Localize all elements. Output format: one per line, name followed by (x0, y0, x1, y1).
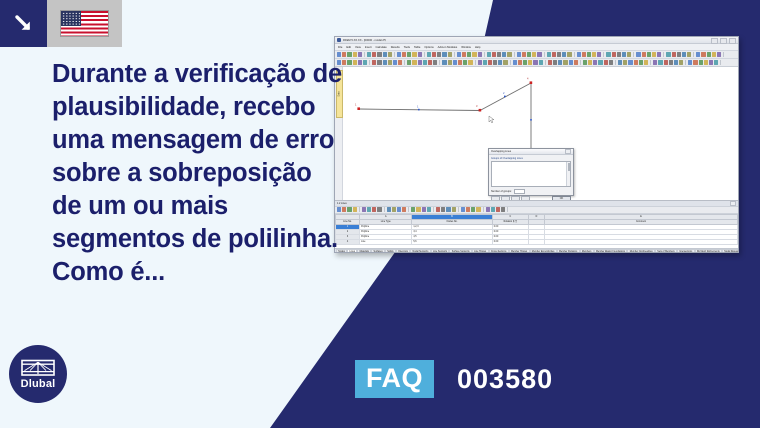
menu-item-file[interactable]: File (338, 46, 342, 49)
toolbar-button-icon[interactable] (699, 60, 703, 64)
toolbar-separator (693, 52, 694, 57)
toolbar-button-icon[interactable] (709, 60, 713, 64)
toolbar-button-icon[interactable] (437, 52, 441, 56)
toolbar-separator (723, 52, 724, 57)
toolbar-button-icon[interactable] (682, 52, 686, 56)
arrow-down-right-icon[interactable] (0, 0, 47, 47)
toolbar-button-icon[interactable] (347, 207, 351, 211)
faq-identifier: FAQ 003580 (355, 360, 553, 398)
toolbar-button-icon[interactable] (448, 60, 452, 64)
toolbar-separator (545, 60, 546, 65)
toolbar-button-icon[interactable] (677, 52, 681, 56)
toolbar-button-icon[interactable] (471, 207, 475, 211)
toolbar-separator (364, 52, 365, 57)
toolbar-button-icon[interactable] (517, 52, 521, 56)
toolbar-button-icon[interactable] (701, 52, 705, 56)
application-window-screenshot: RFEM 5.XX.XX - [00000 - model.rf5] File … (334, 36, 739, 253)
toolbar-button-icon[interactable] (552, 52, 556, 56)
toolbar-button-icon[interactable] (567, 52, 571, 56)
toolbar-button-icon[interactable] (372, 52, 376, 56)
toolbar-button-icon[interactable] (507, 52, 511, 56)
dialog-next-button[interactable] (501, 196, 510, 200)
table-tab[interactable]: Line Hinges (472, 249, 489, 254)
toolbar-button-icon[interactable] (412, 60, 416, 64)
toolbar-button-icon[interactable] (388, 52, 392, 56)
toolbar-button-icon[interactable] (497, 52, 501, 56)
menu-item-calculate[interactable]: Calculate (376, 46, 387, 49)
toolbar-button-icon[interactable] (433, 60, 437, 64)
minimize-button[interactable] (711, 38, 718, 44)
toolbar-button-icon[interactable] (392, 207, 396, 211)
toolbar-button-icon[interactable] (457, 52, 461, 56)
app-window-title: RFEM 5.XX.XX - [00000 - model.rf5] (343, 39, 386, 42)
toolbar-button-icon[interactable] (372, 207, 376, 211)
toolbar-button-icon[interactable] (442, 60, 446, 64)
toolbar-button-icon[interactable] (533, 60, 537, 64)
toolbar-separator (574, 52, 575, 57)
us-flag-icon[interactable] (47, 0, 122, 47)
table-tab[interactable]: Member Eccentricities (530, 249, 557, 254)
table-body[interactable]: 1Polyline1,2,30.002Polyline3,40.003Polyl… (336, 224, 738, 244)
toolbar-button-icon[interactable] (669, 60, 673, 64)
cell-comment[interactable] (545, 239, 738, 244)
toolbar-button-icon[interactable] (363, 60, 367, 64)
model-canvas[interactable]: 1 3 4 5 1 2 Overlapping Lines (343, 67, 738, 200)
table-tab[interactable]: Sets of Members (655, 249, 677, 254)
dialog-group-label: Groups of Overlapping Lines (491, 157, 571, 160)
toolbar-button-icon[interactable] (604, 60, 608, 64)
table-tab[interactable]: Members (580, 249, 594, 254)
table-tab[interactable]: Openings (396, 249, 410, 254)
toolbar-button-icon[interactable] (647, 52, 651, 56)
toolbar-separator (433, 207, 434, 212)
truss-bridge-icon (21, 358, 55, 378)
table-tab[interactable]: Materials (357, 249, 371, 254)
toolbar-separator (483, 207, 484, 212)
close-button[interactable] (729, 38, 736, 44)
toolbar-button-icon[interactable] (353, 60, 357, 64)
toolbar-button-icon[interactable] (466, 207, 470, 211)
table-tab[interactable]: Cross-Sections (489, 249, 509, 254)
toolbar-separator (507, 207, 508, 212)
window-controls[interactable] (711, 38, 736, 44)
toolbar-button-icon[interactable] (388, 60, 392, 64)
cell-line-type[interactable]: Line (360, 239, 412, 244)
table-tab[interactable]: Member Elastic Foundations (594, 249, 628, 254)
toolbar-button-icon[interactable] (712, 52, 716, 56)
toolbar-button-icon[interactable] (427, 52, 431, 56)
toolbar-button-icon[interactable] (622, 52, 626, 56)
toolbar-button-icon[interactable] (597, 52, 601, 56)
toolbar-button-icon[interactable] (397, 52, 401, 56)
toolbar-button-icon[interactable] (486, 207, 490, 211)
toolbar-button-icon[interactable] (642, 52, 646, 56)
toolbar-separator (650, 60, 651, 65)
toolbar-button-icon[interactable] (501, 207, 505, 211)
toolbar-button-icon[interactable] (553, 60, 557, 64)
toolbar-button-icon[interactable] (462, 52, 466, 56)
app-toolbar-secondary[interactable] (335, 59, 738, 67)
toolbar-separator (475, 60, 476, 65)
toolbar-button-icon[interactable] (422, 207, 426, 211)
toolbar-button-icon[interactable] (569, 60, 573, 64)
menu-item-tools[interactable]: Tools (404, 46, 410, 49)
toolbar-button-icon[interactable] (478, 52, 482, 56)
toolbar-button-icon[interactable] (347, 60, 351, 64)
toolbar-button-icon[interactable] (548, 60, 552, 64)
toolbar-button-icon[interactable] (714, 60, 718, 64)
toolbar-button-icon[interactable] (527, 52, 531, 56)
toolbar-button-icon[interactable] (592, 52, 596, 56)
toolbar-button-icon[interactable] (522, 52, 526, 56)
toolbar-button-icon[interactable] (383, 60, 387, 64)
toolbar-separator (544, 52, 545, 57)
toolbar-button-icon[interactable] (432, 52, 436, 56)
toolbar-separator (369, 60, 370, 65)
toolbar-button-icon[interactable] (574, 60, 578, 64)
table-row[interactable]: 4Line5,60.00 (336, 239, 738, 244)
toolbar-button-icon[interactable] (493, 60, 497, 64)
toolbar-button-icon[interactable] (448, 52, 452, 56)
toolbar-button-icon[interactable] (513, 60, 517, 64)
toolbar-button-icon[interactable] (411, 207, 415, 211)
toolbar-button-icon[interactable] (674, 60, 678, 64)
dialog-prev-button[interactable] (491, 196, 500, 200)
toolbar-button-icon[interactable] (407, 60, 411, 64)
table-panel-title: 1.2 Lines (335, 201, 738, 207)
maximize-button[interactable] (720, 38, 727, 44)
svg-text:4: 4 (527, 77, 529, 81)
menu-item-results[interactable]: Results (391, 46, 400, 49)
toolbar-button-icon[interactable] (537, 52, 541, 56)
table-tab[interactable]: Intersections (677, 249, 695, 254)
cell-spacer[interactable] (528, 239, 544, 244)
toolbar-button-icon[interactable] (483, 60, 487, 64)
toolbar-button-icon[interactable] (704, 60, 708, 64)
toolbar-button-icon[interactable] (618, 60, 622, 64)
toolbar-button-icon[interactable] (398, 60, 402, 64)
flag-canton (61, 11, 81, 26)
toolbar-button-icon[interactable] (393, 60, 397, 64)
app-workspace: Data (335, 67, 738, 200)
toolbar-button-icon[interactable] (491, 207, 495, 211)
page-title: Durante a verificação de plausibilidade,… (52, 58, 342, 289)
flag-graphic (60, 10, 109, 37)
toolbar-button-icon[interactable] (418, 60, 422, 64)
toolbar-button-icon[interactable] (362, 207, 366, 211)
faq-label: FAQ (355, 360, 434, 398)
toolbar-button-icon[interactable] (539, 60, 543, 64)
toolbar-button-icon[interactable] (636, 52, 640, 56)
toolbar-button-icon[interactable] (402, 52, 406, 56)
toolbar-button-icon[interactable] (502, 52, 506, 56)
toolbar-button-icon[interactable] (679, 60, 683, 64)
toolbar-button-icon[interactable] (627, 52, 631, 56)
toolbar-button-icon[interactable] (441, 207, 445, 211)
toolbar-button-icon[interactable] (377, 52, 381, 56)
menu-item-table[interactable]: Table (414, 46, 420, 49)
toolbar-button-icon[interactable] (658, 60, 662, 64)
flag-stars (62, 12, 80, 25)
toolbar-button-icon[interactable] (503, 60, 507, 64)
menu-item-options[interactable]: Options (424, 46, 433, 49)
toolbar-button-icon[interactable] (563, 60, 567, 64)
toolbar-separator (439, 60, 440, 65)
logo-circle: Dlubal (9, 345, 67, 403)
toolbar-button-icon[interactable] (492, 52, 496, 56)
toolbar-button-icon[interactable] (628, 60, 632, 64)
toolbar-button-icon[interactable] (402, 207, 406, 211)
toolbar-button-icon[interactable] (617, 52, 621, 56)
toolbar-separator (580, 60, 581, 65)
toolbar-button-icon[interactable] (377, 207, 381, 211)
table-panel: 1.2 Lines A B C D (335, 200, 738, 253)
toolbar-button-icon[interactable] (587, 52, 591, 56)
svg-text:3: 3 (476, 104, 478, 108)
toolbar-button-icon[interactable] (652, 52, 656, 56)
toolbar-button-icon[interactable] (653, 60, 657, 64)
dialog-pick-button[interactable] (521, 196, 530, 200)
toolbar-separator (424, 52, 425, 57)
toolbar-button-icon[interactable] (644, 60, 648, 64)
group-count-label: Number of groups: (491, 190, 512, 193)
toolbar-button-icon[interactable] (496, 207, 500, 211)
toolbar-button-icon[interactable] (342, 207, 346, 211)
toolbar-button-icon[interactable] (558, 60, 562, 64)
cell-rotation[interactable]: 0.00 (492, 239, 528, 244)
toolbar-separator (408, 207, 409, 212)
toolbar-button-icon[interactable] (436, 207, 440, 211)
toolbar-separator (663, 52, 664, 57)
toolbar-button-icon[interactable] (478, 60, 482, 64)
menu-item-insert[interactable]: Insert (365, 46, 372, 49)
toolbar-separator (404, 60, 405, 65)
toolbar-button-icon[interactable] (593, 60, 597, 64)
dialog-title: Overlapping Lines (491, 150, 511, 153)
toolbar-separator (359, 207, 360, 212)
cell-nodes-no[interactable]: 5,6 (412, 239, 492, 244)
table-toolbar[interactable] (335, 207, 738, 214)
toolbar-button-icon[interactable] (562, 52, 566, 56)
toolbar-button-icon[interactable] (498, 60, 502, 64)
toolbar-button-icon[interactable] (353, 52, 357, 56)
svg-text:1: 1 (355, 103, 357, 107)
table-tab[interactable]: Solids (385, 249, 396, 254)
toolbar-button-icon[interactable] (518, 60, 522, 64)
toolbar-button-icon[interactable] (528, 60, 532, 64)
toolbar-button-icon[interactable] (372, 60, 376, 64)
toolbar-button-icon[interactable] (634, 60, 638, 64)
table-panel-close-icon[interactable] (730, 201, 736, 206)
toolbar-separator (514, 52, 515, 57)
toolbar-button-icon[interactable] (532, 52, 536, 56)
toolbar-button-icon[interactable] (453, 60, 457, 64)
menu-item-window[interactable]: Window (461, 46, 471, 49)
app-menubar[interactable]: File Edit View Insert Calculate Results … (335, 44, 738, 51)
toolbar-button-icon[interactable] (693, 60, 697, 64)
language-bar (0, 0, 122, 47)
toolbar-button-icon[interactable] (446, 207, 450, 211)
menu-item-edit[interactable]: Edit (346, 46, 351, 49)
toolbar-button-icon[interactable] (367, 207, 371, 211)
toolbar-button-icon[interactable] (416, 207, 420, 211)
lines-table[interactable]: A B C D E Line No. Line Type Nodes No. R… (335, 214, 738, 245)
toolbar-separator (685, 60, 686, 65)
toolbar-button-icon[interactable] (387, 207, 391, 211)
toolbar-button-icon[interactable] (717, 52, 721, 56)
toolbar-button-icon[interactable] (418, 52, 422, 56)
table-tab[interactable]: Member Nonlinearities (627, 249, 655, 254)
toolbar-button-icon[interactable] (377, 60, 381, 64)
dialog-footer: OK (491, 196, 571, 201)
toolbar-button-icon[interactable] (342, 60, 346, 64)
menu-item-help[interactable]: Help (475, 46, 481, 49)
table-tab[interactable]: Surfaces (371, 249, 385, 254)
toolbar-button-icon[interactable] (557, 52, 561, 56)
toolbar-separator (720, 60, 721, 65)
toolbar-button-icon[interactable] (688, 60, 692, 64)
toolbar-button-icon[interactable] (476, 207, 480, 211)
toolbar-button-icon[interactable] (488, 60, 492, 64)
toolbar-separator (454, 52, 455, 57)
table-tab[interactable]: Surface Supports (449, 249, 471, 254)
table-tab[interactable]: FE Mesh Refinements (695, 249, 722, 254)
toolbar-button-icon[interactable] (463, 60, 467, 64)
toolbar-button-icon[interactable] (606, 52, 610, 56)
group-count-row: Number of groups: (491, 189, 571, 195)
svg-text:2: 2 (503, 91, 505, 95)
table-tab[interactable]: Member Divisions (557, 249, 580, 254)
toolbar-button-icon[interactable] (442, 52, 446, 56)
toolbar-button-icon[interactable] (707, 52, 711, 56)
app-toolbar-primary[interactable] (335, 51, 738, 59)
toolbar-separator (603, 52, 604, 57)
toolbar-button-icon[interactable] (696, 52, 700, 56)
list-scrollbar[interactable] (566, 162, 571, 186)
toolbar-button-icon[interactable] (468, 60, 472, 64)
table-tab-strip[interactable]: NodesLinesMaterialsSurfacesSolidsOpening… (335, 248, 738, 254)
overlapping-lines-list[interactable] (491, 161, 571, 187)
table-tab[interactable]: Line Supports (431, 249, 450, 254)
group-count-field[interactable] (514, 189, 525, 195)
toolbar-button-icon[interactable] (412, 52, 416, 56)
toolbar-button-icon[interactable] (623, 60, 627, 64)
toolbar-button-icon[interactable] (577, 52, 581, 56)
toolbar-button-icon[interactable] (383, 52, 387, 56)
toolbar-button-icon[interactable] (487, 52, 491, 56)
table-tab[interactable]: Nodal Releases (722, 249, 738, 254)
logo-wordmark: Dlubal (21, 379, 56, 390)
toolbar-button-icon[interactable] (458, 60, 462, 64)
table-tab[interactable]: Member Hinges (509, 249, 530, 254)
dialog-close-icon[interactable] (565, 149, 571, 154)
table-tab[interactable]: Nodal Supports (410, 249, 430, 254)
toolbar-button-icon[interactable] (657, 52, 661, 56)
toolbar-button-icon[interactable] (407, 52, 411, 56)
app-icon (337, 38, 341, 42)
toolbar-separator (633, 52, 634, 57)
toolbar-button-icon[interactable] (583, 60, 587, 64)
app-titlebar: RFEM 5.XX.XX - [00000 - model.rf5] (335, 37, 738, 44)
toolbar-button-icon[interactable] (467, 52, 471, 56)
toolbar-button-icon[interactable] (687, 52, 691, 56)
toolbar-separator (394, 52, 395, 57)
toolbar-separator (484, 52, 485, 57)
toolbar-button-icon[interactable] (598, 60, 602, 64)
toolbar-button-icon[interactable] (609, 60, 613, 64)
toolbar-separator (615, 60, 616, 65)
toolbar-button-icon[interactable] (358, 52, 362, 56)
toolbar-button-icon[interactable] (423, 60, 427, 64)
toolbar-button-icon[interactable] (547, 52, 551, 56)
toolbar-button-icon[interactable] (452, 207, 456, 211)
toolbar-button-icon[interactable] (472, 52, 476, 56)
toolbar-button-icon[interactable] (367, 52, 371, 56)
dialog-ok-button[interactable]: OK (552, 196, 571, 201)
toolbar-button-icon[interactable] (612, 52, 616, 56)
toolbar-button-icon[interactable] (353, 207, 357, 211)
svg-text:1: 1 (417, 104, 419, 108)
toolbar-button-icon[interactable] (337, 52, 341, 56)
toolbar-separator (384, 207, 385, 212)
toolbar-button-icon[interactable] (588, 60, 592, 64)
faq-banner: Durante a verificação de plausibilidade,… (0, 0, 760, 428)
overlapping-lines-dialog[interactable]: Overlapping Lines Groups of Overlapping … (488, 148, 574, 196)
dialog-zoom-button[interactable] (511, 196, 520, 200)
toolbar-button-icon[interactable] (582, 52, 586, 56)
toolbar-button-icon[interactable] (342, 52, 346, 56)
toolbar-button-icon[interactable] (397, 207, 401, 211)
toolbar-separator (458, 207, 459, 212)
toolbar-button-icon[interactable] (428, 60, 432, 64)
toolbar-button-icon[interactable] (523, 60, 527, 64)
toolbar-button-icon[interactable] (358, 60, 362, 64)
toolbar-button-icon[interactable] (666, 52, 670, 56)
dialog-body: Groups of Overlapping Lines Number of gr… (489, 155, 573, 200)
toolbar-button-icon[interactable] (461, 207, 465, 211)
faq-number: 003580 (457, 364, 553, 394)
scrollbar-thumb[interactable] (568, 163, 570, 171)
toolbar-button-icon[interactable] (639, 60, 643, 64)
toolbar-button-icon[interactable] (427, 207, 431, 211)
dlubal-logo[interactable]: Dlubal (9, 345, 67, 403)
toolbar-separator (510, 60, 511, 65)
data-grid[interactable]: A B C D E Line No. Line Type Nodes No. R… (335, 214, 738, 248)
toolbar-button-icon[interactable] (347, 52, 351, 56)
toolbar-button-icon[interactable] (672, 52, 676, 56)
menu-item-addons[interactable]: Add-on Modules (438, 46, 458, 49)
menu-item-view[interactable]: View (355, 46, 361, 49)
table-tab[interactable]: Lines (347, 249, 357, 254)
toolbar-button-icon[interactable] (664, 60, 668, 64)
